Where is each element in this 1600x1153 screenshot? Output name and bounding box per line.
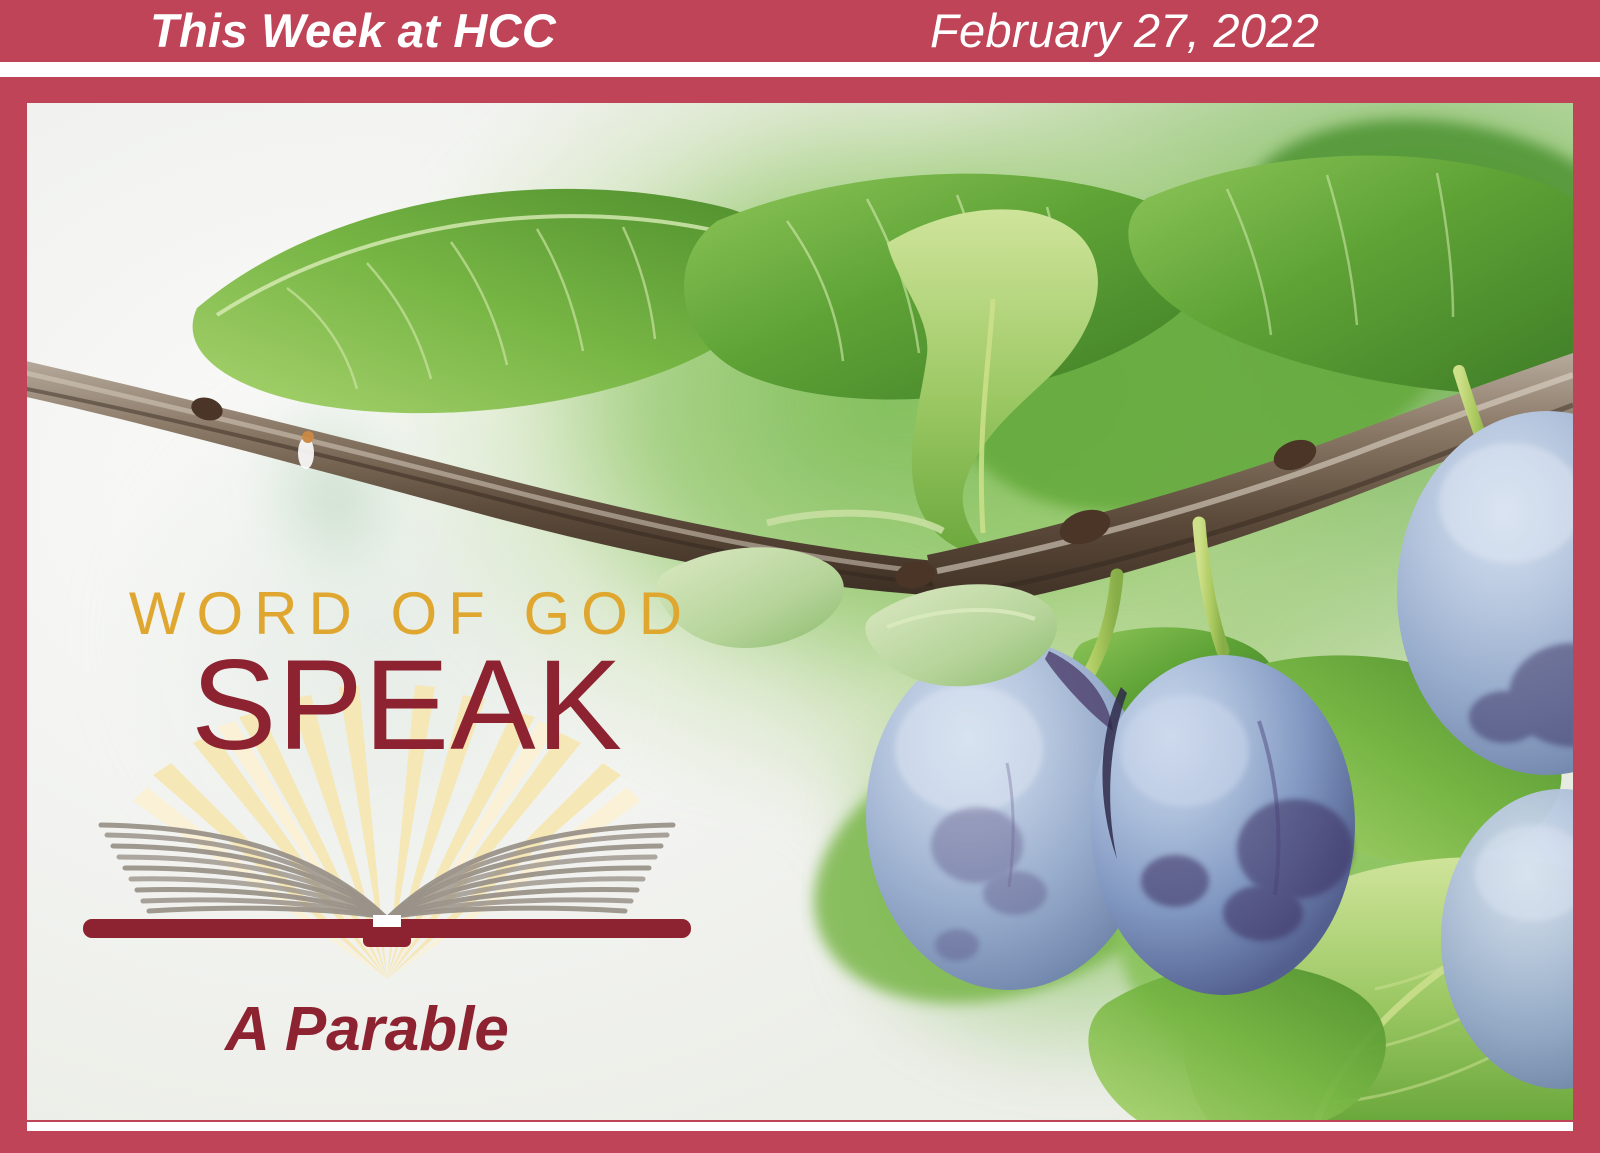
- frame-inner: WORD OF GOD SPEAK A Parable: [27, 103, 1573, 1120]
- banner-gap: [0, 62, 1600, 77]
- footer-bar: [0, 1131, 1600, 1153]
- newsletter-poster: This Week at HCC February 27, 2022: [0, 0, 1600, 1153]
- banner-date: February 27, 2022: [930, 2, 1319, 60]
- header-banner: This Week at HCC February 27, 2022: [0, 0, 1600, 62]
- sermon-tagline: A Parable: [67, 993, 667, 1067]
- logo-line-speak: SPEAK: [107, 639, 707, 773]
- word-of-god-speak-logo: WORD OF GOD SPEAK: [67, 583, 707, 963]
- banner-title: This Week at HCC: [150, 2, 556, 60]
- hero-photo: WORD OF GOD SPEAK A Parable: [27, 103, 1573, 1120]
- open-book-icon: [67, 805, 707, 955]
- photo-frame: WORD OF GOD SPEAK A Parable: [0, 77, 1600, 1153]
